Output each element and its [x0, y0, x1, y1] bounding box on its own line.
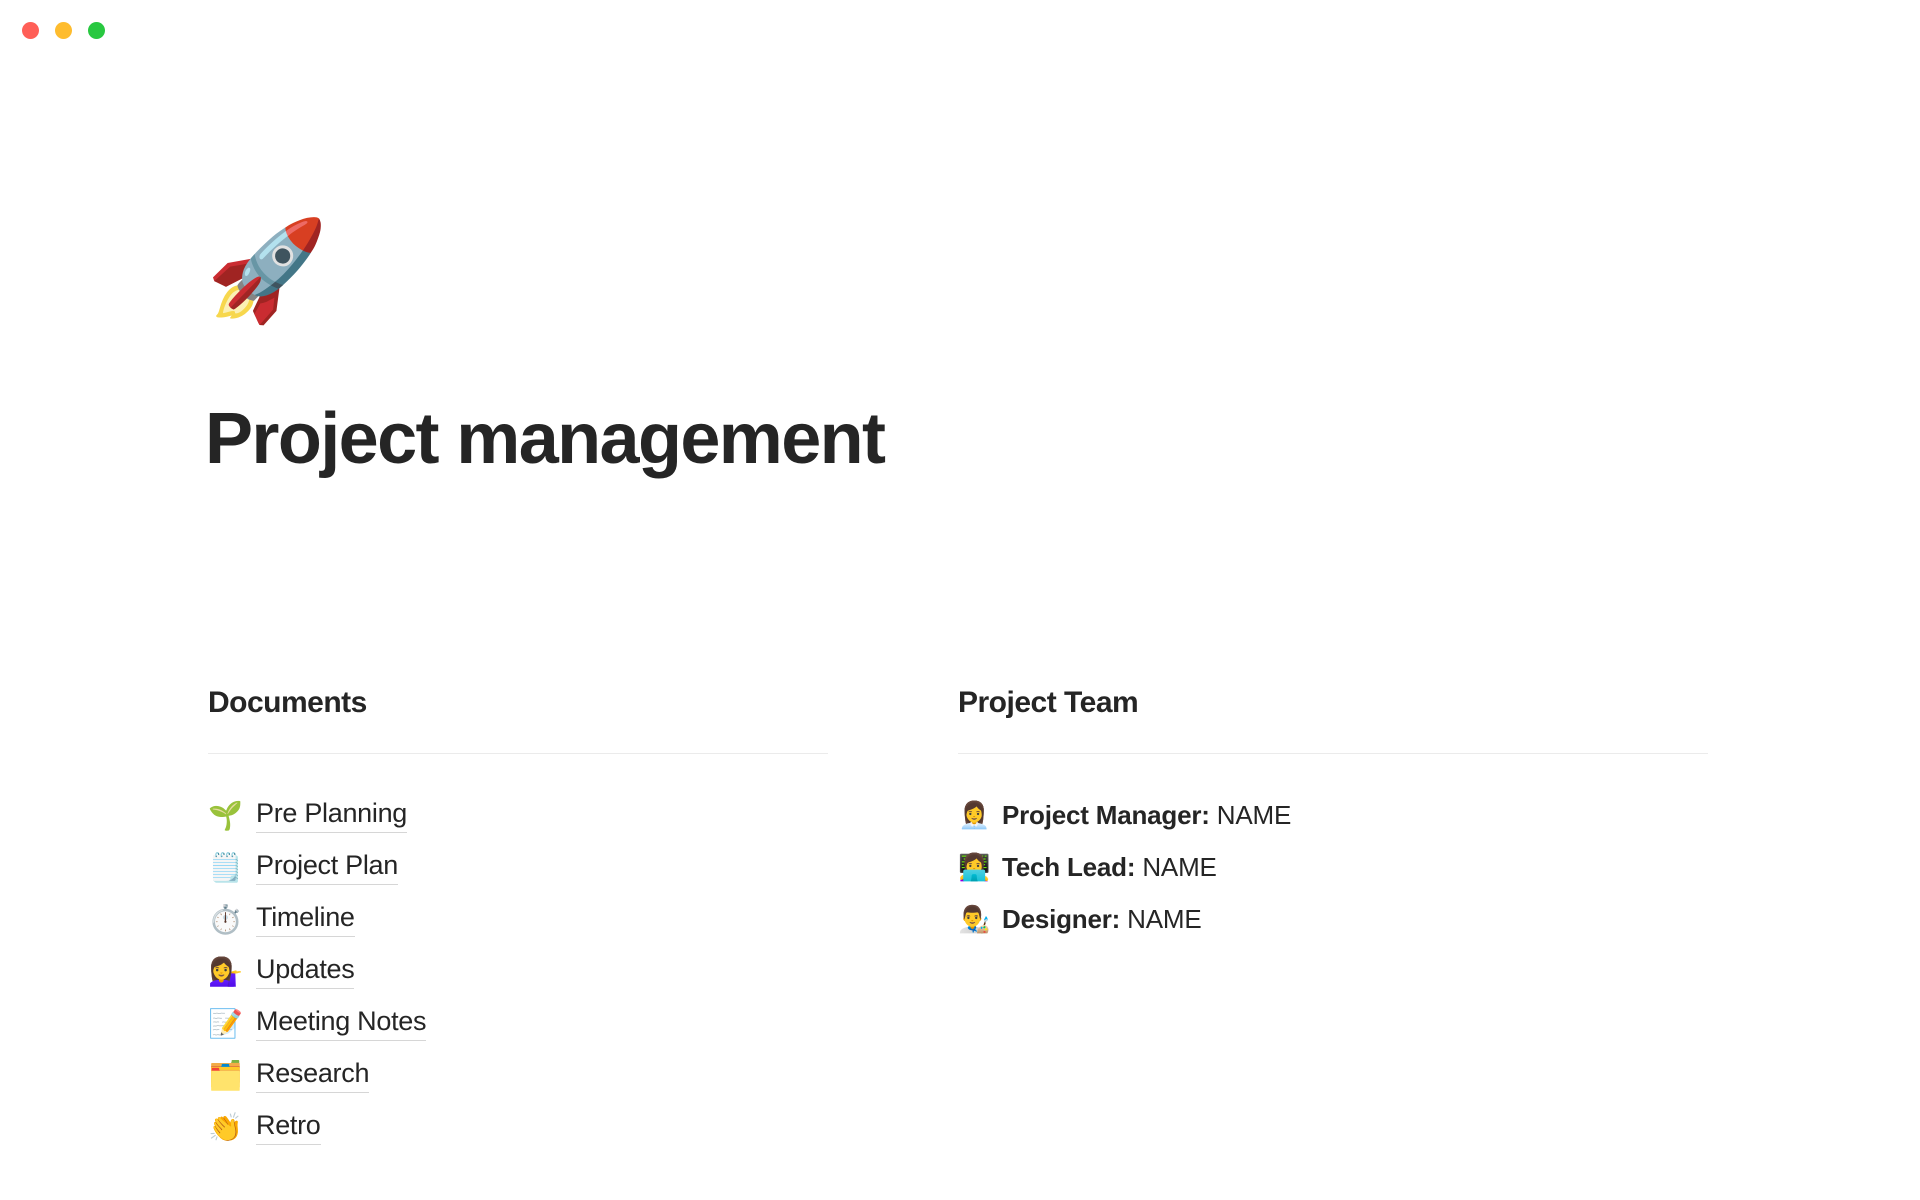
project-team-list: 👩‍💼 Project Manager: NAME 👩‍💻 Tech Lead:…: [958, 790, 1708, 946]
documents-divider: [208, 753, 828, 754]
document-link-retro[interactable]: Retro: [256, 1111, 321, 1145]
document-link-timeline[interactable]: Timeline: [256, 903, 355, 937]
documents-list: 🌱 Pre Planning 🗒️ Project Plan ⏱️ Timeli…: [208, 790, 828, 1154]
woman-technologist-emoji: 👩‍💻: [958, 855, 990, 881]
team-member-project-manager: Project Manager: NAME: [1002, 800, 1291, 831]
list-item[interactable]: 🌱 Pre Planning: [208, 790, 828, 842]
rocket-emoji[interactable]: 🚀: [206, 222, 328, 320]
documents-heading: Documents: [208, 685, 828, 721]
woman-office-worker-emoji: 👩‍💼: [958, 803, 990, 829]
document-link-pre-planning[interactable]: Pre Planning: [256, 799, 407, 833]
list-item[interactable]: ⏱️ Timeline: [208, 894, 828, 946]
app-window: 🚀 Project management Documents 🌱 Pre Pla…: [0, 0, 1920, 1200]
team-member-name: NAME: [1127, 904, 1201, 934]
card-index-dividers-emoji: 🗂️: [208, 1062, 242, 1090]
team-member-name: NAME: [1217, 800, 1291, 830]
memo-emoji: 📝: [208, 1010, 242, 1038]
content-columns: Documents 🌱 Pre Planning 🗒️ Project Plan: [208, 685, 1708, 1154]
stopwatch-emoji: ⏱️: [208, 906, 242, 934]
document-page: 🚀 Project management Documents 🌱 Pre Pla…: [0, 0, 1920, 1200]
seedling-emoji: 🌱: [208, 802, 242, 830]
project-team-heading: Project Team: [958, 685, 1708, 721]
list-item[interactable]: 👏 Retro: [208, 1102, 828, 1154]
team-role-label: Tech Lead:: [1002, 852, 1135, 882]
document-link-project-plan[interactable]: Project Plan: [256, 851, 398, 885]
team-role-label: Project Manager:: [1002, 800, 1210, 830]
list-item: 👩‍💻 Tech Lead: NAME: [958, 842, 1708, 894]
documents-column: Documents 🌱 Pre Planning 🗒️ Project Plan: [208, 685, 958, 1154]
man-artist-emoji: 👨‍🎨: [958, 907, 990, 933]
list-item: 👨‍🎨 Designer: NAME: [958, 894, 1708, 946]
list-item[interactable]: 🗂️ Research: [208, 1050, 828, 1102]
document-link-meeting-notes[interactable]: Meeting Notes: [256, 1007, 426, 1041]
list-item[interactable]: 💁‍♀️ Updates: [208, 946, 828, 998]
team-member-tech-lead: Tech Lead: NAME: [1002, 852, 1217, 883]
documents-body: 🌱 Pre Planning 🗒️ Project Plan ⏱️ Timeli…: [208, 790, 828, 1154]
document-link-updates[interactable]: Updates: [256, 955, 354, 989]
page-title[interactable]: Project management: [205, 398, 884, 481]
list-item[interactable]: 🗒️ Project Plan: [208, 842, 828, 894]
project-team-column: Project Team 👩‍💼 Project Manager: NAME 👩…: [958, 685, 1708, 1154]
list-item[interactable]: 📝 Meeting Notes: [208, 998, 828, 1050]
project-team-divider: [958, 753, 1708, 754]
spiral-notepad-emoji: 🗒️: [208, 854, 242, 882]
list-item: 👩‍💼 Project Manager: NAME: [958, 790, 1708, 842]
woman-tipping-hand-emoji: 💁‍♀️: [208, 958, 242, 986]
document-link-research[interactable]: Research: [256, 1059, 369, 1093]
team-role-label: Designer:: [1002, 904, 1120, 934]
team-member-name: NAME: [1142, 852, 1216, 882]
team-member-designer: Designer: NAME: [1002, 904, 1201, 935]
project-team-body: 👩‍💼 Project Manager: NAME 👩‍💻 Tech Lead:…: [958, 790, 1708, 946]
clapping-hands-emoji: 👏: [208, 1114, 242, 1142]
